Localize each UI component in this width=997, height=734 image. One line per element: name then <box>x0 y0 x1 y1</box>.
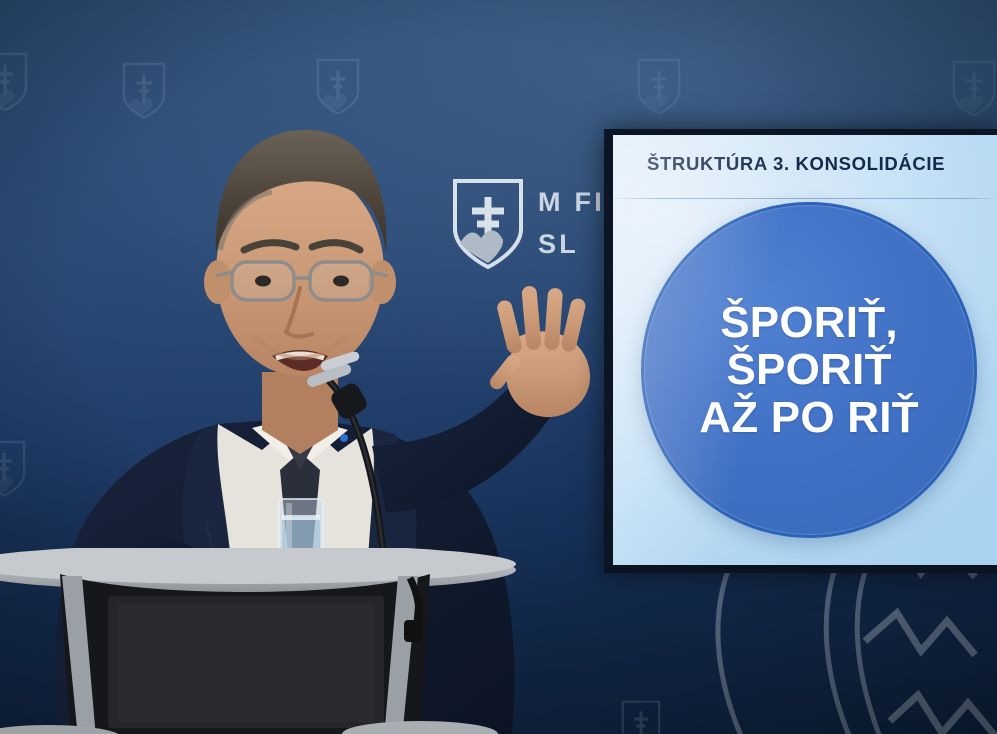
lectern <box>0 548 520 734</box>
screenshot-root: M FIN SL <box>0 0 997 734</box>
presentation-screen[interactable]: ŠTRUKTÚRA 3. KONSOLIDÁCIE ŠPORIŤ, ŠPORIŤ… <box>604 129 997 573</box>
screen-bezel <box>604 129 997 573</box>
